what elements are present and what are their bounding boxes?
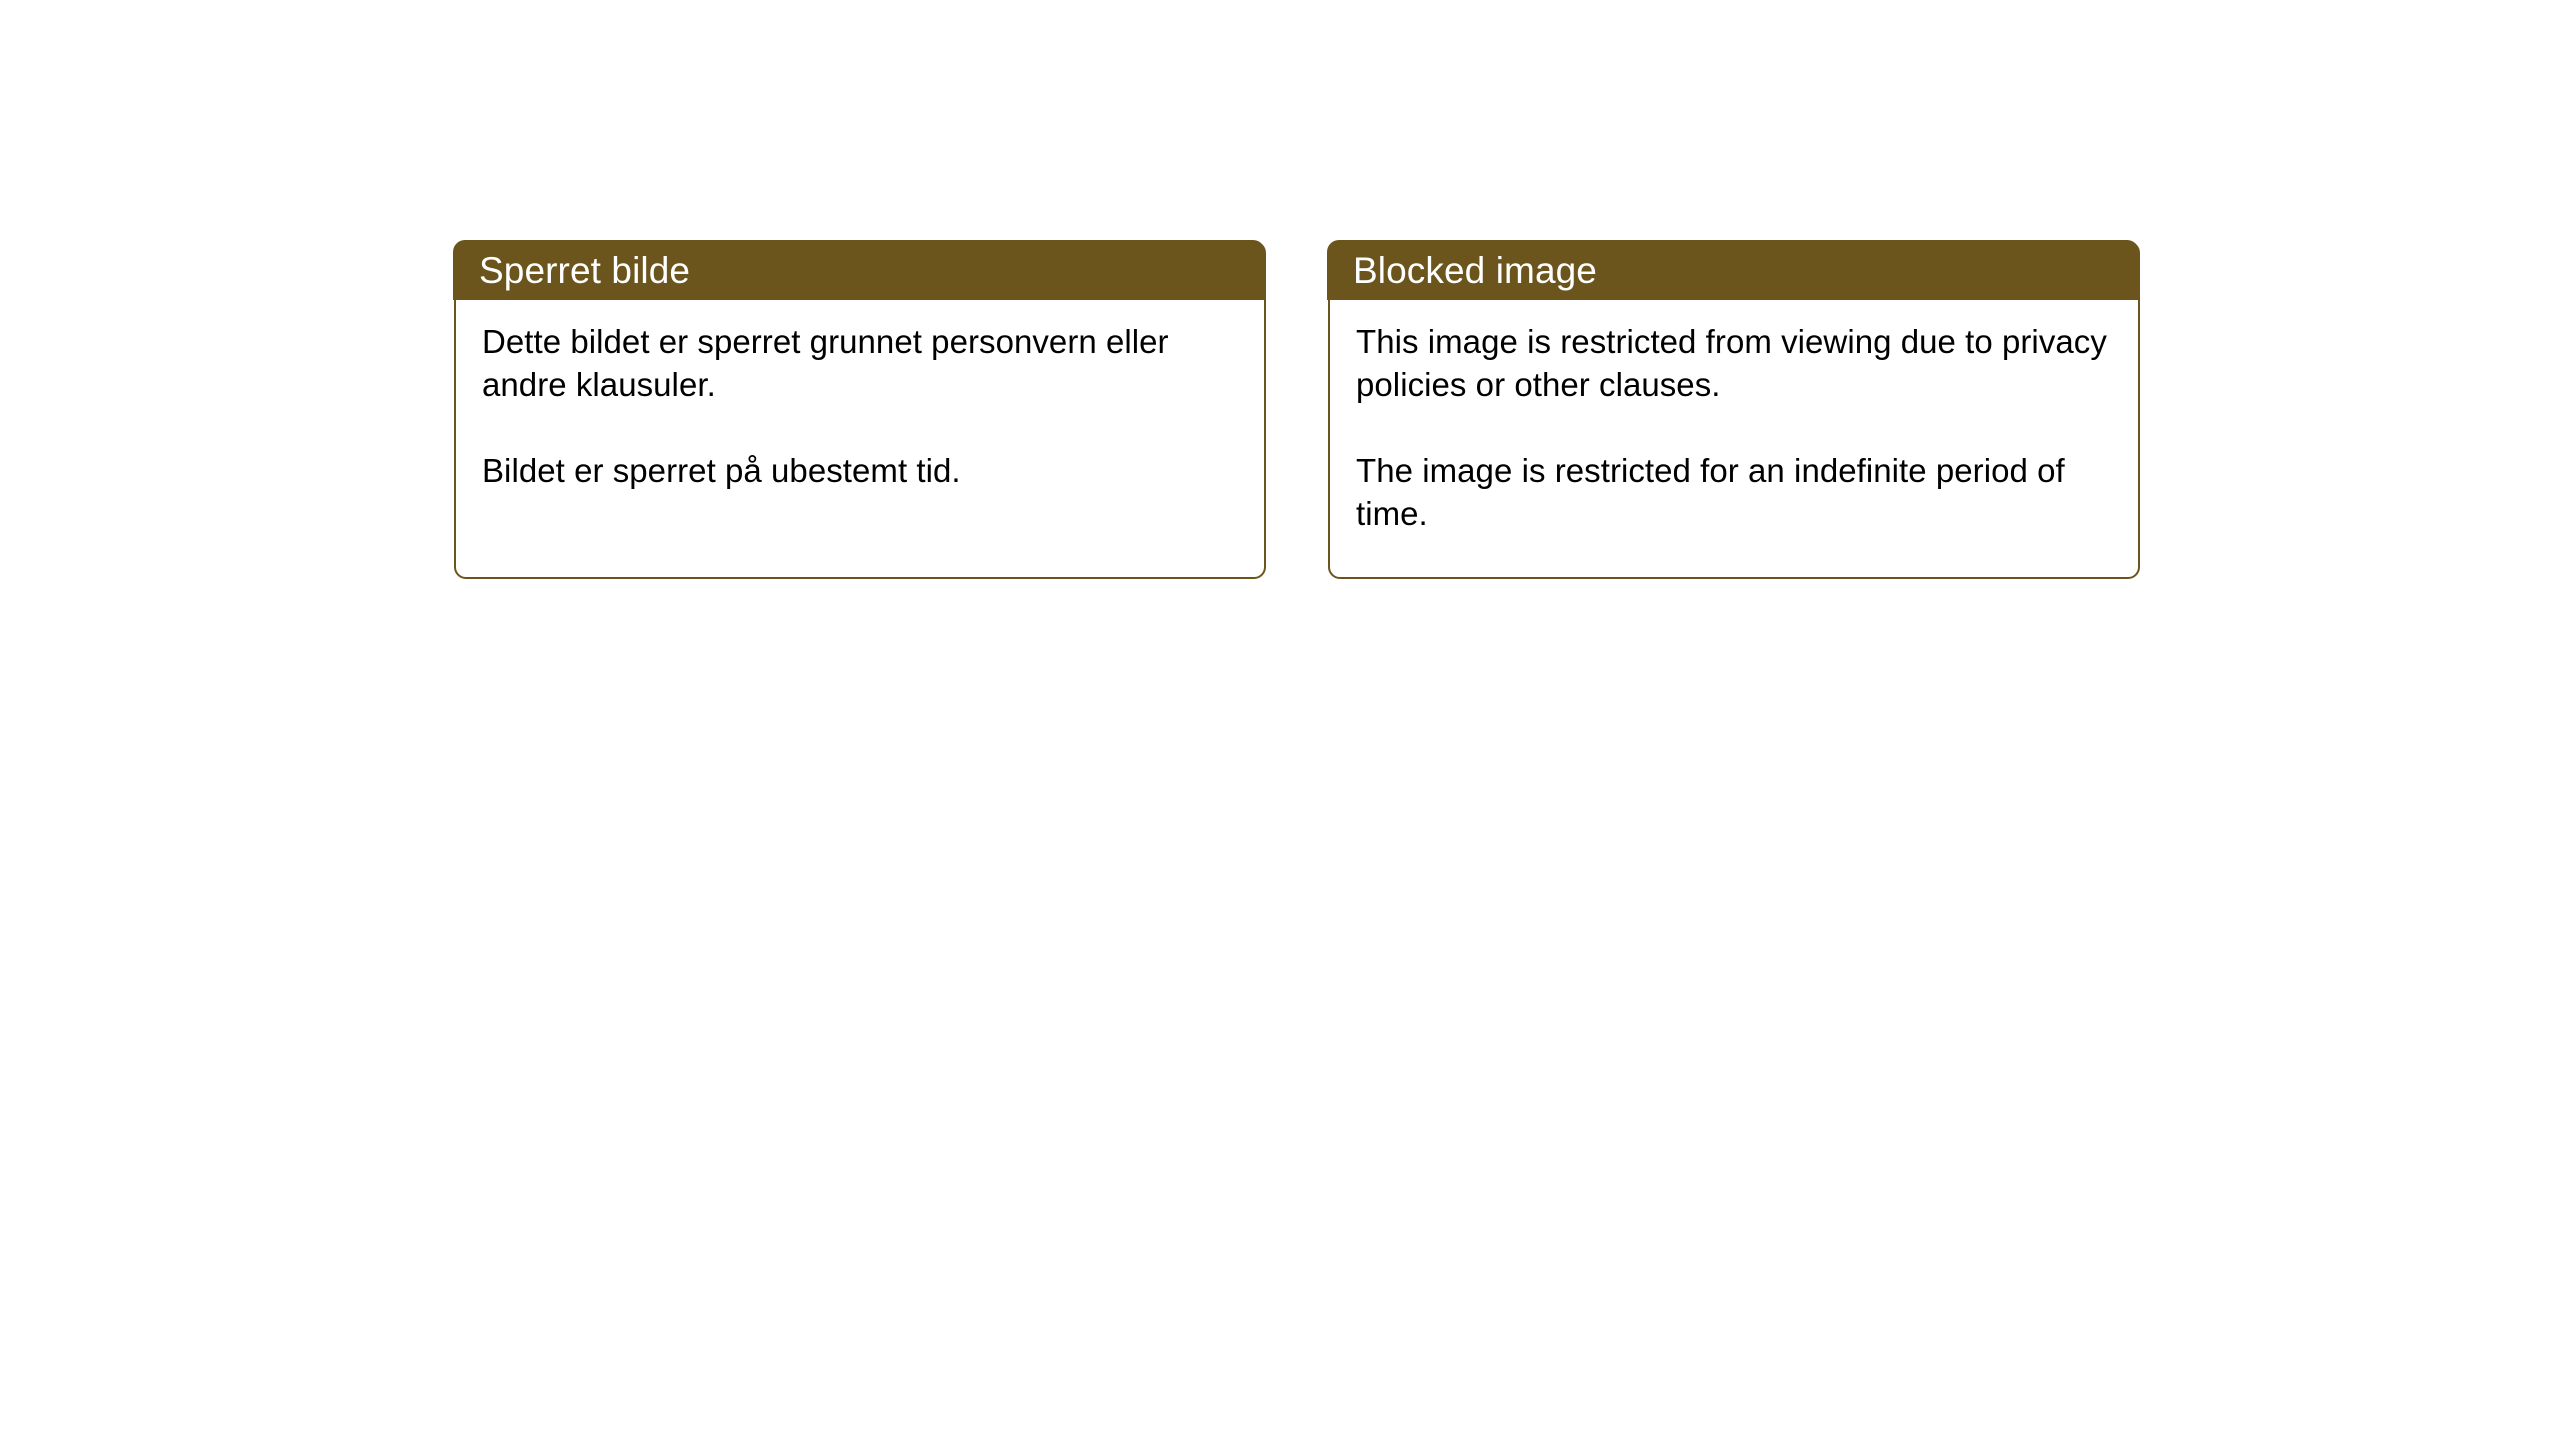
blocked-image-notice-card-english: Blocked image This image is restricted f…	[1328, 241, 2140, 579]
card-title: Sperret bilde	[479, 252, 690, 289]
card-body: Dette bildet er sperret grunnet personve…	[456, 300, 1268, 492]
page-canvas: Sperret bilde Dette bildet er sperret gr…	[0, 0, 2560, 1440]
card-body: This image is restricted from viewing du…	[1330, 300, 2142, 535]
blocked-image-notice-card-norwegian: Sperret bilde Dette bildet er sperret gr…	[454, 241, 1266, 579]
card-paragraph-primary: Dette bildet er sperret grunnet personve…	[482, 320, 1244, 406]
card-paragraph-primary: This image is restricted from viewing du…	[1356, 320, 2118, 406]
card-title: Blocked image	[1353, 252, 1597, 289]
card-paragraph-secondary: The image is restricted for an indefinit…	[1356, 449, 2118, 535]
card-header-bar: Sperret bilde	[453, 240, 1265, 300]
card-paragraph-secondary: Bildet er sperret på ubestemt tid.	[482, 449, 1244, 492]
card-header-bar: Blocked image	[1327, 240, 2139, 300]
